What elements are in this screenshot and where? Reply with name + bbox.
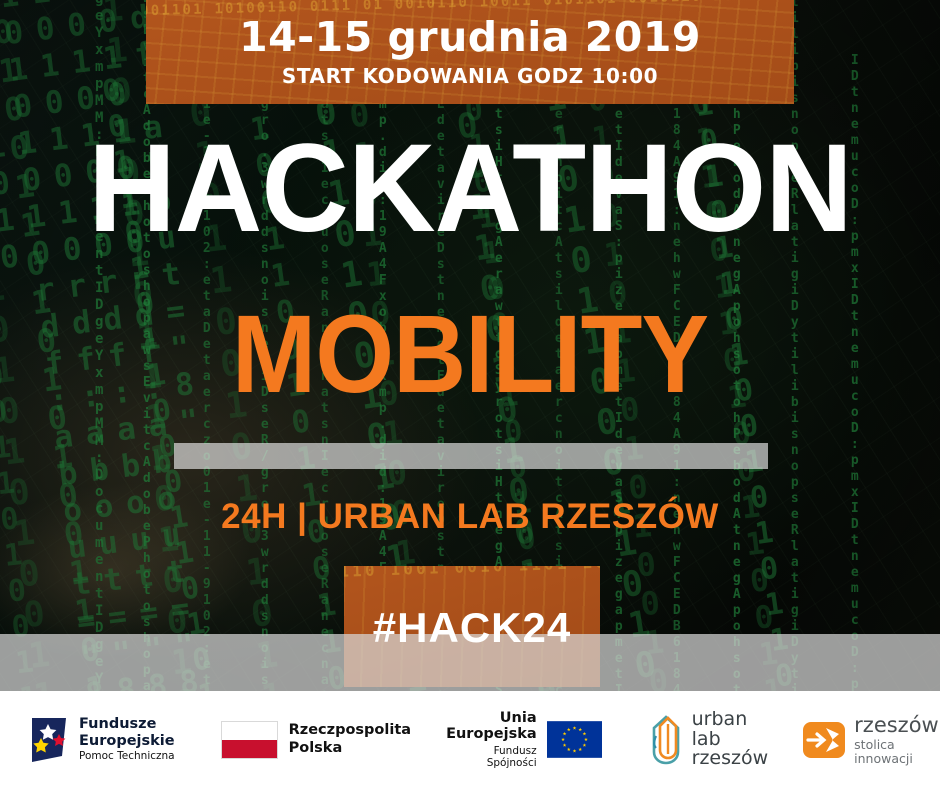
logo-line-1: Rzeczpospolita [289,722,411,739]
page-title: HACKATHON [14,126,926,251]
event-start-time: START KODOWANIA GODZ 10:00 [146,64,794,88]
eu-funds-flag-icon [28,716,70,764]
logo-fundusze-europejskie: Fundusze Europejskie Pomoc Techniczna [28,716,175,764]
venue-line: 24H | URBAN LAB RZESZÓW [0,497,940,537]
logo-line-2: Polska [289,740,411,757]
logo-line-2: Fundusz Spójności [446,745,537,769]
logo-line-2: Europejskie [79,733,175,749]
logo-line-3: Pomoc Techniczna [79,751,175,763]
logo-text-wrap: Unia Europejska Fundusz Spójności [446,710,537,769]
banner-text-wrap: 14-15 grudnia 2019 START KODOWANIA GODZ … [146,0,794,88]
eu-flag-icon [547,721,602,758]
page-subtitle-accent: MOBILITY [38,300,903,410]
logo-rzeszow-stolica-innowacji: rzeszów stolica innowacji [802,714,939,766]
logo-text-wrap: Fundusze Europejskie Pomoc Techniczna [79,716,175,762]
logo-unia-europejska: Unia Europejska Fundusz Spójności [446,710,602,769]
urban-lab-droplet-arrow-icon [644,714,684,766]
logo-line-1: Unia Europejska [446,710,537,743]
flag-stripe-white [222,722,277,740]
sponsor-footer: Fundusze Europejskie Pomoc Techniczna Rz… [0,691,940,788]
logo-line-1: urban lab [692,710,769,750]
date-banner: 01001101 10100110 0111 01 0010110 10011 … [146,0,794,104]
divider-bar [174,443,768,469]
logo-text-wrap: Rzeczpospolita Polska [289,722,411,757]
poster-canvas: rdf:about="8" 10101010rdf:about="8" 1010… [0,0,940,788]
event-date: 14-15 grudnia 2019 [146,13,794,61]
logo-line-1: rzeszów [854,714,939,737]
flag-stripe-red [222,740,277,758]
logo-urban-lab-rzeszow: urban lab rzeszów [644,710,769,769]
logo-line-2: rzeszów [692,749,769,769]
rzeszow-arrow-square-icon [802,718,846,762]
logo-line-2: stolica innowacji [854,738,939,766]
logo-text-wrap: urban lab rzeszów [692,710,769,769]
logo-line-1: Fundusze [79,716,175,732]
hashtag-label: #HACK24 [344,566,600,652]
polish-flag-icon [221,721,278,759]
logo-rzeczpospolita-polska: Rzeczpospolita Polska [221,721,411,759]
logo-text-wrap: rzeszów stolica innowacji [854,714,939,766]
